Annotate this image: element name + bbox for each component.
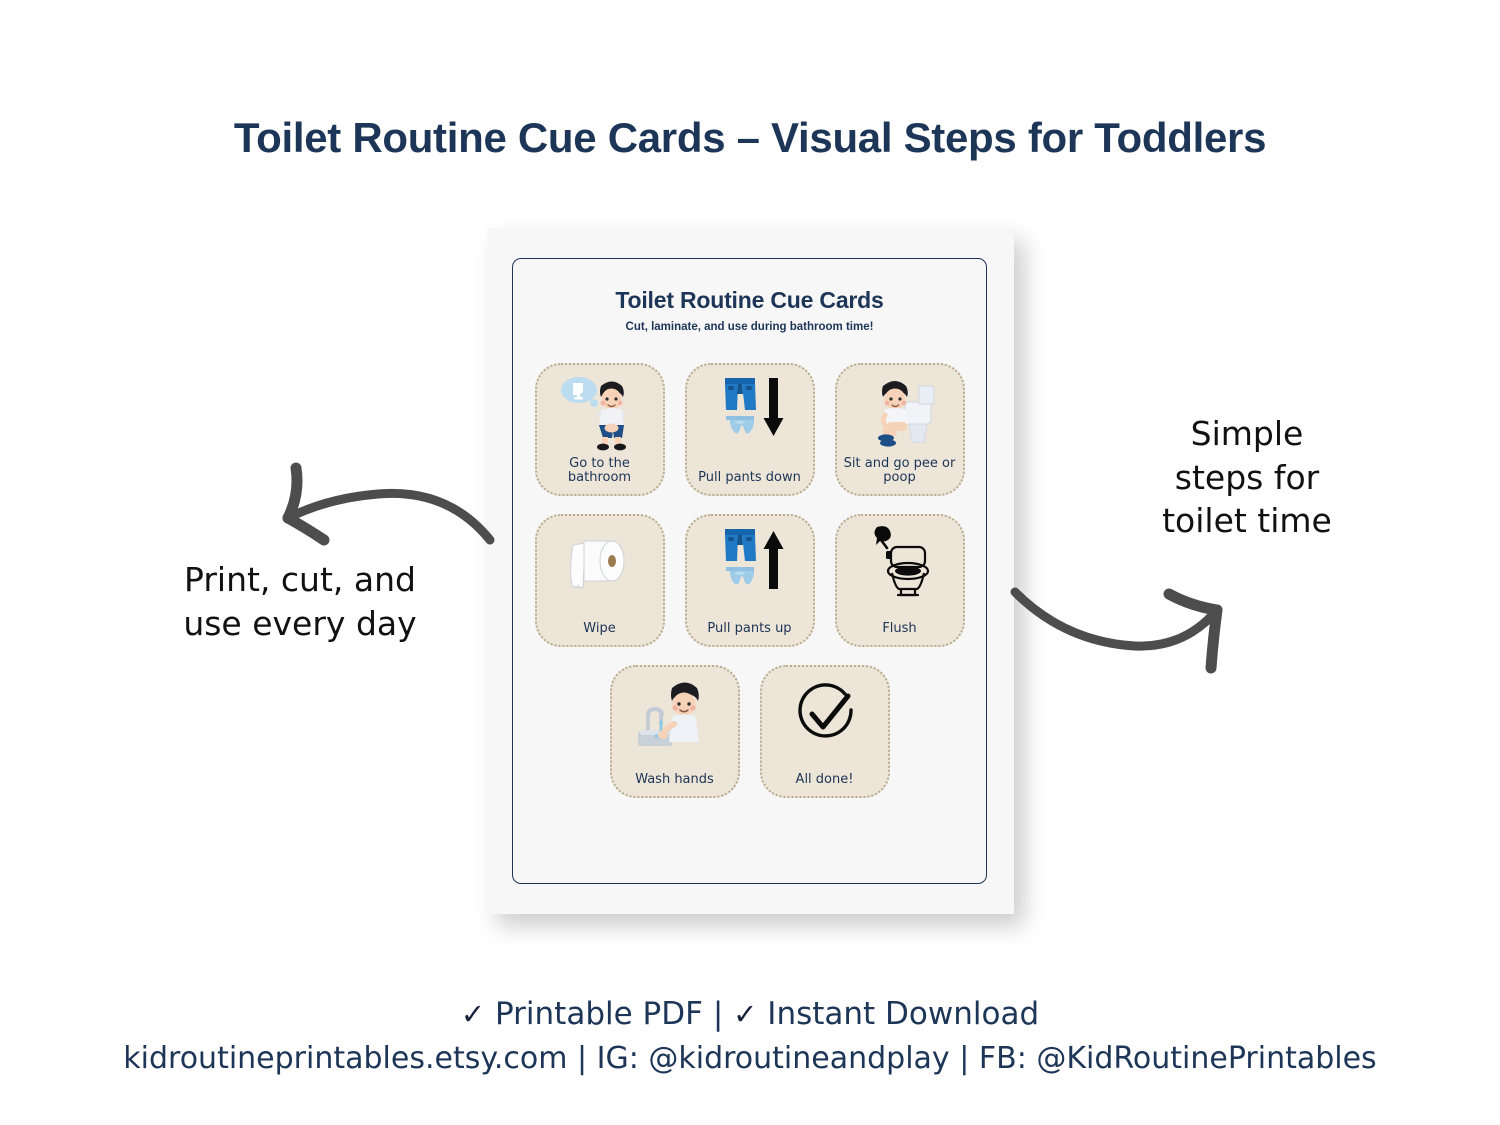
cue-card-pull-pants-up[interactable]: Pull pants up bbox=[685, 514, 815, 647]
cue-card-label: Wipe bbox=[541, 622, 659, 637]
printable-page-mockup: Toilet Routine Cue Cards Cut, laminate, … bbox=[487, 228, 1014, 914]
annotation-right-text: Simple steps for toilet time bbox=[1122, 412, 1372, 543]
cue-card-pull-pants-down[interactable]: Pull pants down bbox=[685, 363, 815, 496]
check-icon-1: ✓ bbox=[461, 997, 485, 1031]
pants-up-arrow-icon bbox=[687, 522, 813, 604]
boy-washing-hands-icon bbox=[612, 673, 738, 755]
boy-on-toilet-icon bbox=[837, 371, 963, 453]
footer-instant-download: Instant Download bbox=[767, 996, 1039, 1032]
boy-needs-toilet-icon bbox=[537, 371, 663, 453]
annotation-left-text: Print, cut, and use every day bbox=[150, 558, 450, 645]
check-circle-icon bbox=[762, 673, 888, 755]
footer: ✓ Printable PDF | ✓ Instant Download kid… bbox=[0, 995, 1500, 1078]
cue-card-label: Wash hands bbox=[616, 773, 734, 788]
cue-card-all-done[interactable]: All done! bbox=[760, 665, 890, 798]
cue-card-label: Pull pants down bbox=[691, 471, 809, 486]
footer-shop-links: kidroutineprintables.etsy.com | IG: @kid… bbox=[0, 1039, 1500, 1078]
cue-card-wash-hands[interactable]: Wash hands bbox=[610, 665, 740, 798]
arrow-right-icon bbox=[1005, 570, 1245, 685]
toilet-paper-roll-icon bbox=[537, 522, 663, 604]
toilet-flush-hand-icon bbox=[837, 522, 963, 604]
cue-card-label: Pull pants up bbox=[691, 622, 809, 637]
pants-down-arrow-icon bbox=[687, 371, 813, 453]
cue-card-row: Go to the bathroom bbox=[531, 363, 968, 496]
footer-benefits-line: ✓ Printable PDF | ✓ Instant Download bbox=[0, 995, 1500, 1035]
cue-card-label: Sit and go pee or poop bbox=[841, 457, 959, 486]
cue-card-label: All done! bbox=[766, 773, 884, 788]
arrow-left-icon bbox=[258, 460, 498, 555]
check-icon-2: ✓ bbox=[733, 997, 757, 1031]
cue-card-row: Wipe bbox=[531, 514, 968, 647]
cue-card-wipe[interactable]: Wipe bbox=[535, 514, 665, 647]
printable-page-frame: Toilet Routine Cue Cards Cut, laminate, … bbox=[512, 258, 987, 884]
listing-canvas: Toilet Routine Cue Cards – Visual Steps … bbox=[0, 0, 1500, 1125]
cue-card-label: Flush bbox=[841, 622, 959, 637]
cue-card-go-to-bathroom[interactable]: Go to the bathroom bbox=[535, 363, 665, 496]
cue-card-label: Go to the bathroom bbox=[541, 457, 659, 486]
cue-card-grid: Go to the bathroom bbox=[531, 363, 968, 798]
footer-separator: | bbox=[713, 996, 723, 1032]
cue-card-flush[interactable]: Flush bbox=[835, 514, 965, 647]
cue-card-sit-and-go[interactable]: Sit and go pee or poop bbox=[835, 363, 965, 496]
sheet-title: Toilet Routine Cue Cards bbox=[513, 287, 986, 314]
footer-printable-pdf: Printable PDF bbox=[495, 996, 703, 1032]
page-title: Toilet Routine Cue Cards – Visual Steps … bbox=[0, 114, 1500, 162]
cue-card-row: Wash hands All done! bbox=[531, 665, 968, 798]
sheet-subtitle: Cut, laminate, and use during bathroom t… bbox=[513, 321, 986, 333]
